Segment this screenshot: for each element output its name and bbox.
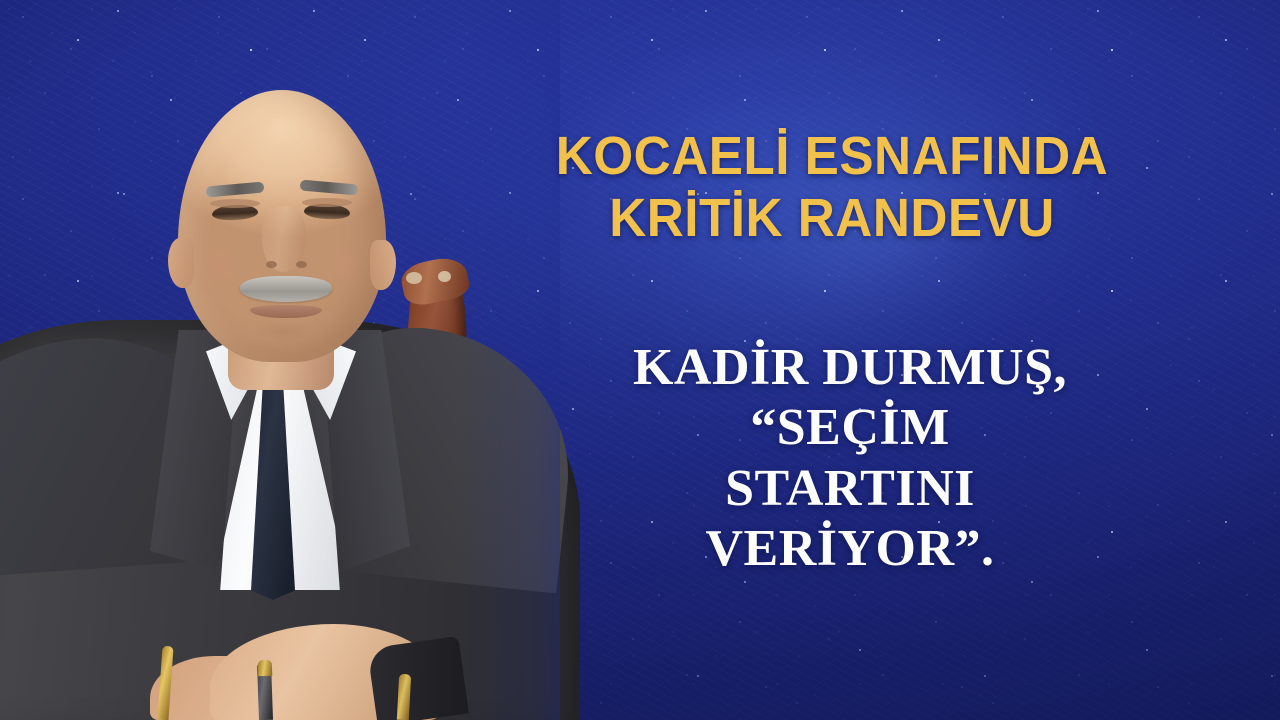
quote-subheadline: KADİR DURMUŞ, “SEÇİM STARTINI VERİYOR”. — [560, 338, 1140, 579]
eyelid-left — [210, 199, 260, 208]
chair-highlight — [406, 272, 422, 284]
nostril-right — [296, 261, 307, 268]
ear-left — [168, 238, 194, 288]
nostril-left — [266, 261, 277, 268]
pen-center-cap — [258, 660, 273, 676]
portrait-figure — [0, 0, 560, 720]
chin-shadow — [240, 320, 330, 348]
mustache — [240, 276, 332, 302]
chair-highlight-secondary — [438, 271, 451, 282]
eyelid-right — [302, 198, 352, 207]
main-headline: KOCAELİ ESNAFINDA KRİTİK RANDEVU — [471, 126, 1193, 249]
news-thumbnail-card: KOCAELİ ESNAFINDA KRİTİK RANDEVU KADİR D… — [0, 0, 1280, 720]
gold-pen-right — [397, 674, 411, 720]
jacket-cuff — [367, 636, 469, 720]
ear-right — [370, 240, 396, 290]
